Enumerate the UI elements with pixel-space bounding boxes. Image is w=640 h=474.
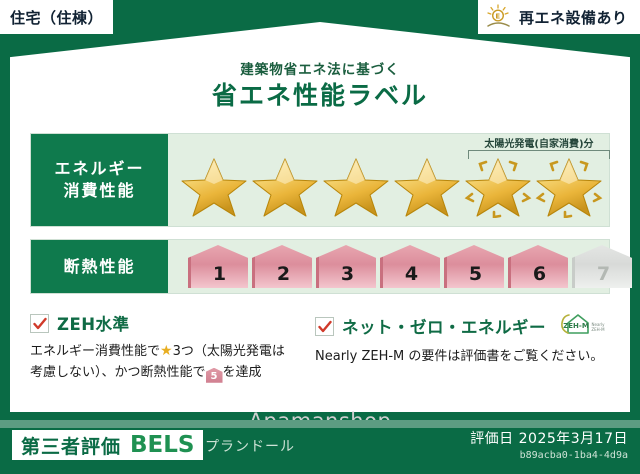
page-title: 省エネ性能ラベル [0,76,640,112]
star-icon [393,154,461,218]
bels-en-label: BELS [130,432,194,458]
svg-text:ZEH-M: ZEH-M [563,322,589,330]
energy-label-line2: 消費性能 [63,180,135,202]
inline-grade-badge: 5 [206,368,223,383]
zeh-standard-column: ZEH水準 エネルギー消費性能で★3つ（太陽光発電は考慮しない）、かつ断熱性能で… [30,311,297,397]
net-zero-energy-title: ネット・ゼロ・エネルギー [342,314,546,338]
net-zero-energy-header: ネット・ゼロ・エネルギー ZEH-M Nearly ZEH-M [315,311,610,341]
net-zero-energy-column: ネット・ゼロ・エネルギー ZEH-M Nearly ZEH-M Nearly Z… [315,311,610,397]
inline-star-icon: ★ [160,343,173,359]
insulation-performance-value: 1234567 [168,240,632,293]
net-zero-energy-checkbox [315,317,334,336]
energy-performance-value: 太陽光発電(自家消費)分 [168,134,609,226]
solar-generation-note: 太陽光発電(自家消費)分 [465,135,613,150]
insulation-grade-badge-5: 5 [444,245,504,288]
renewable-equipment-tab: E 再エネ設備あり [478,0,640,34]
svg-text:E: E [495,13,500,21]
insulation-performance-key: 断熱性能 [31,240,168,293]
criteria-columns: ZEH水準 エネルギー消費性能で★3つ（太陽光発電は考慮しない）、かつ断熱性能で… [30,311,610,397]
renewable-equipment-label: 再エネ設備あり [519,7,628,28]
insulation-label: 断熱性能 [63,256,135,278]
building-type-label: 住宅（住棟） [10,7,103,28]
star-icon [322,154,390,218]
zeh-body-part3: を達成 [223,365,262,380]
insulation-grade-badge-6: 6 [508,245,568,288]
insulation-grade-badge-4: 4 [380,245,440,288]
net-zero-energy-body: Nearly ZEH-M の要件は評価書をご覧ください。 [315,347,610,367]
energy-performance-row: エネルギー 消費性能 太陽光発電(自家消費)分 [30,133,610,227]
zeh-m-house-logo: ZEH-M Nearly ZEH-M [554,311,610,341]
sun-solar-icon: E [484,4,514,30]
zeh-standard-checkbox [30,314,49,333]
bels-jp-label: 第三者評価 [21,432,121,459]
zeh-standard-body: エネルギー消費性能で★3つ（太陽光発電は考慮しない）、かつ断熱性能で5を達成 [30,341,297,383]
zeh-body-part1: エネルギー消費性能で [30,344,160,359]
insulation-grade-badge-7: 7 [572,245,632,288]
insulation-performance-row: 断熱性能 1234567 [30,239,610,294]
energy-performance-key: エネルギー 消費性能 [31,134,168,226]
star-icon [180,154,248,218]
energy-performance-label: 住宅（住棟） E 再エネ設備あり 建築物省エネ法に基づく 省エネ性能ラベル [0,0,640,474]
building-type-tab: 住宅（住棟） [0,0,113,34]
energy-label-line1: エネルギー [54,158,144,180]
star-solar-icon [535,154,603,218]
insulation-grade-badges: 1234567 [168,245,632,288]
evaluation-id: b89acba0-1ba4-4d9a [520,450,628,461]
zeh-standard-header: ZEH水準 [30,311,297,335]
svg-text:ZEH-M: ZEH-M [591,327,605,332]
star-solar-icon [464,154,532,218]
insulation-grade-badge-3: 3 [316,245,376,288]
evaluation-date: 評価日 2025年3月17日 [470,428,628,448]
zeh-standard-title: ZEH水準 [57,311,130,335]
label-subtitle: 建築物省エネ法に基づく [0,58,640,78]
bels-certification-badge: 第三者評価 BELS [12,430,203,460]
star-icon [251,154,319,218]
building-name: プランドール [205,436,295,456]
insulation-grade-badge-1: 1 [188,245,248,288]
insulation-grade-badge-2: 2 [252,245,312,288]
star-rating [168,154,603,218]
